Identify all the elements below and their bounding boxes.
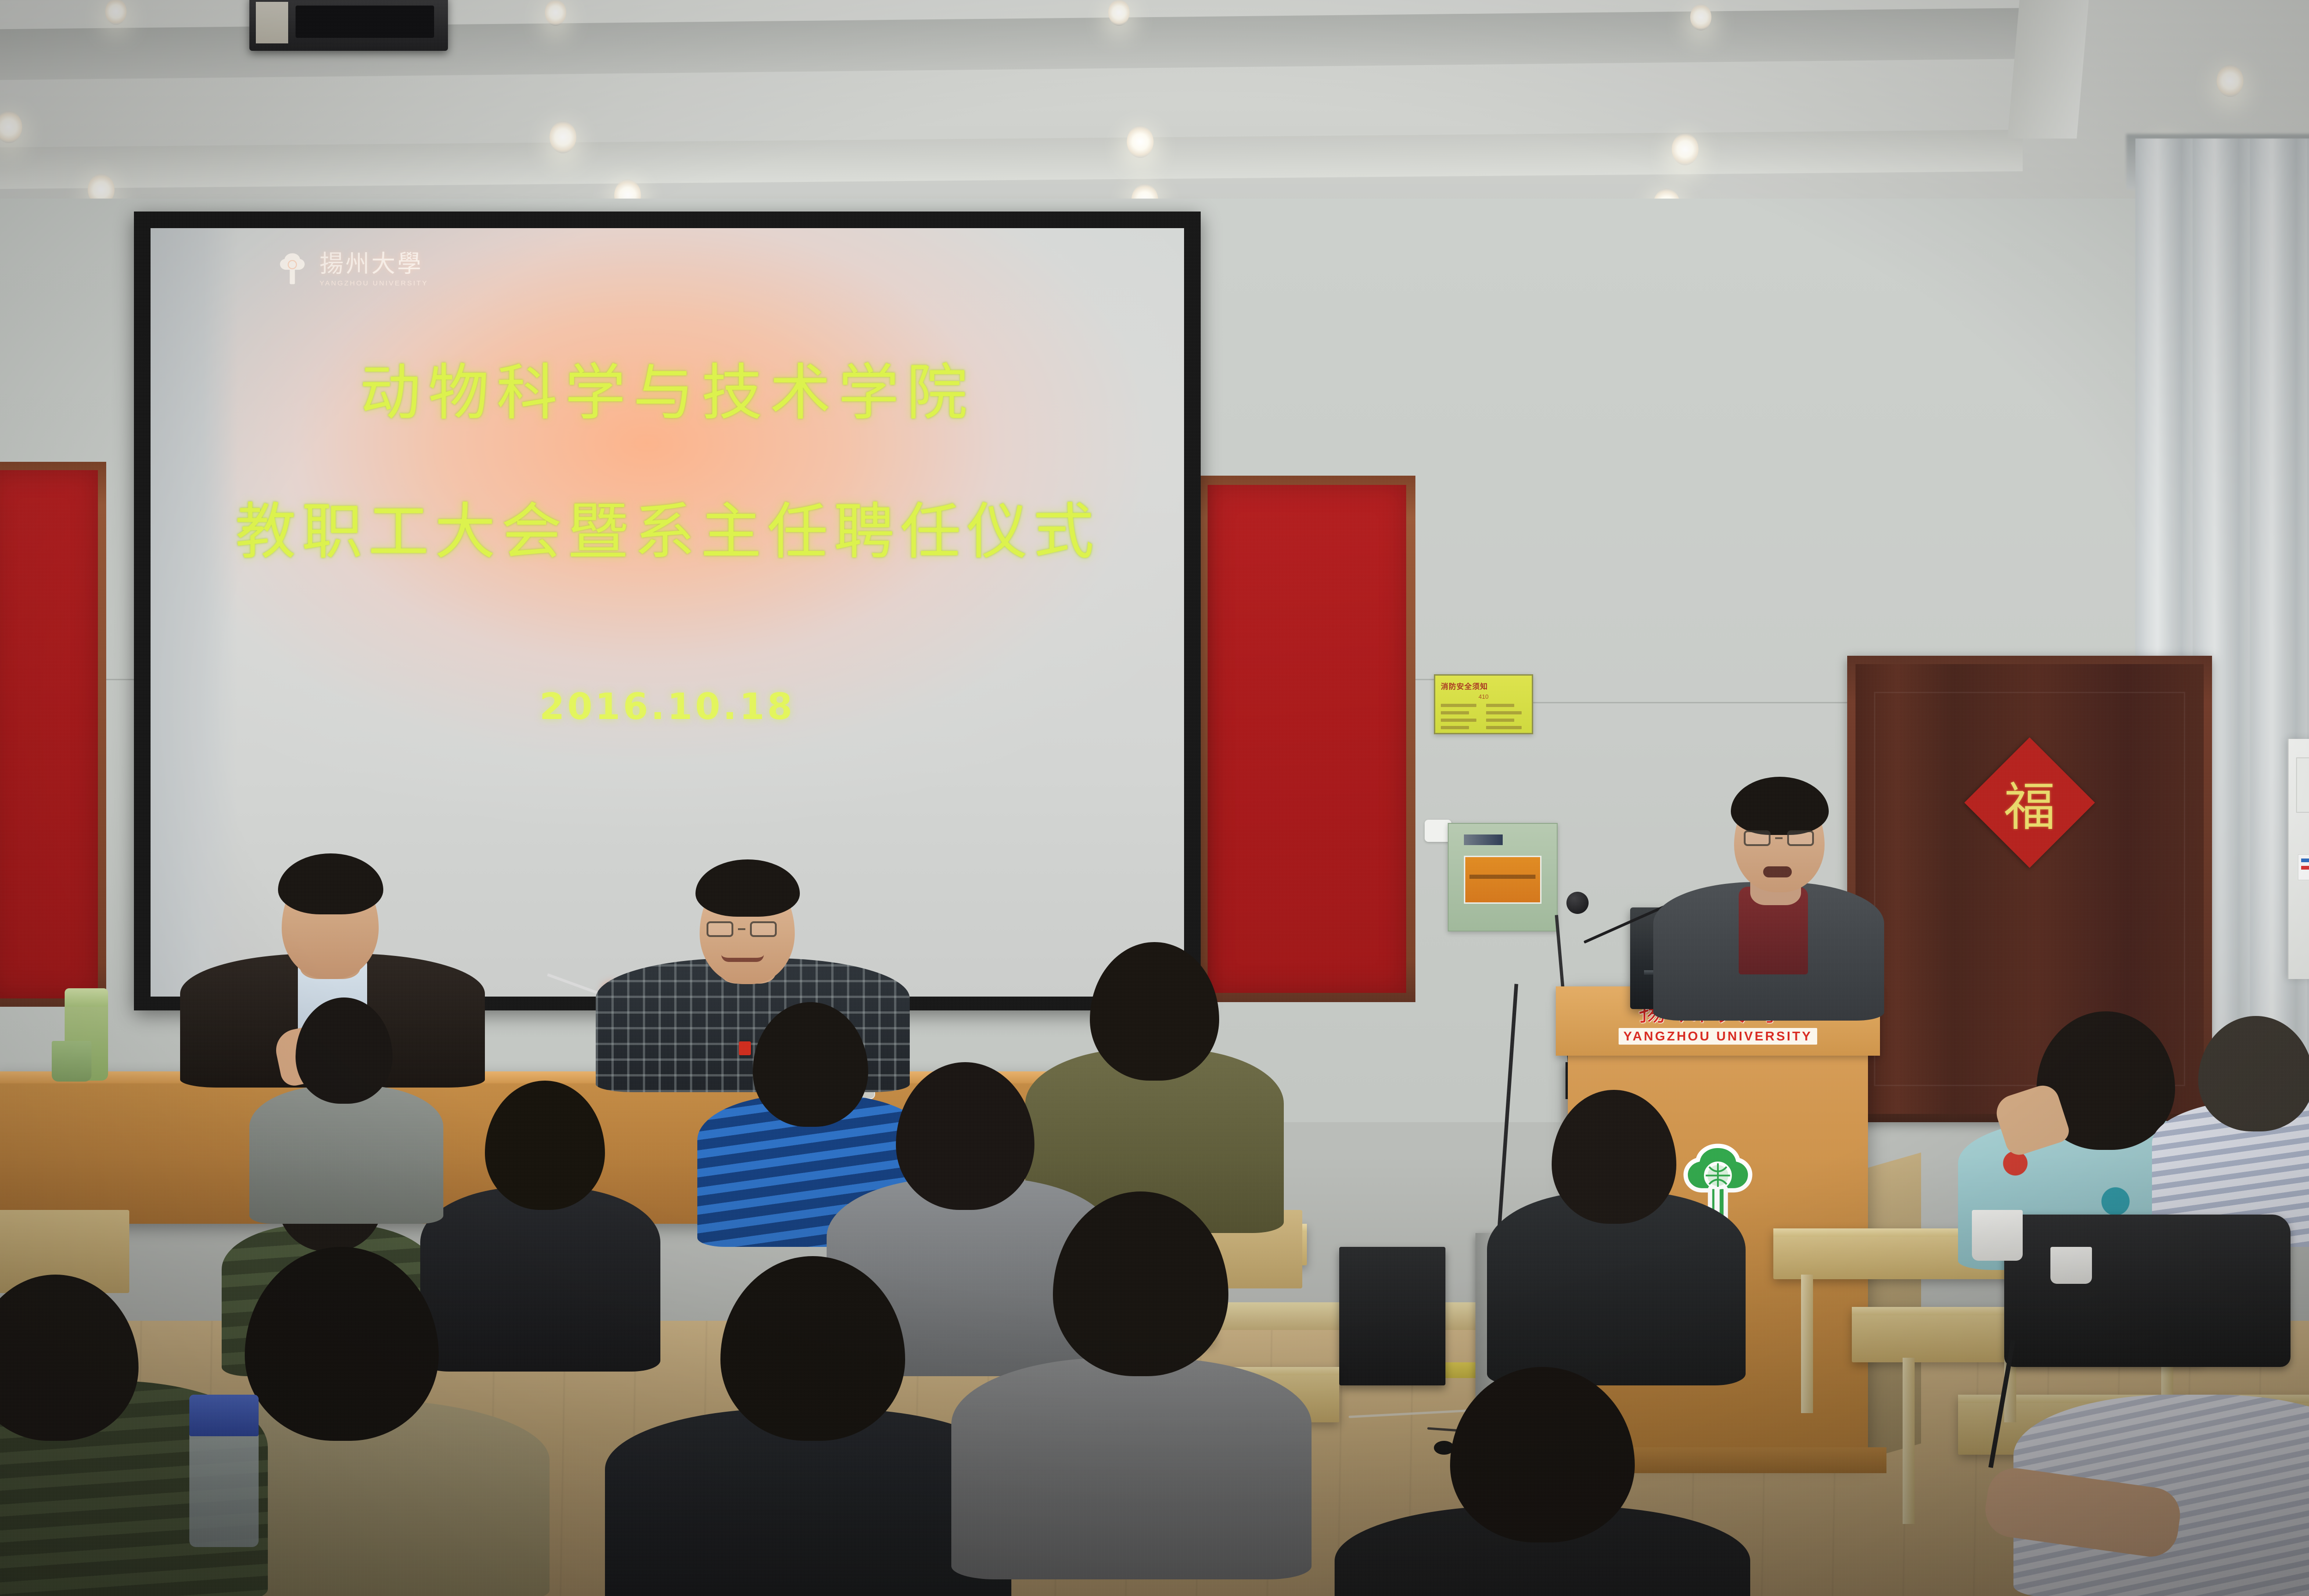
speaker-mouth (1763, 866, 1792, 877)
desk-leg (1903, 1358, 1915, 1524)
fu-glyph: 福 (2004, 765, 2055, 840)
paper-cup (1972, 1210, 2023, 1261)
panel-indicator-window (1464, 856, 1541, 904)
panel-label (1464, 834, 1503, 845)
notice-subtitle: 410 (1441, 693, 1526, 700)
slide-body: 动物科学与技术学院 教职工大会暨系主任聘任仪式 2016.10.18 (151, 344, 1184, 728)
official-right-hair (695, 859, 800, 917)
slide-title-line2: 教职工大会暨系主任聘任仪式 (151, 483, 1184, 571)
notice-column (1486, 704, 1527, 733)
ceiling-spotlight (550, 121, 576, 153)
microphone-head (1566, 892, 1589, 914)
water-bottle (189, 1395, 259, 1547)
official-left-hair (278, 853, 383, 914)
lectern-name-en: YANGZHOU UNIVERSITY (1619, 1028, 1817, 1045)
slide-title-line1: 动物科学与技术学院 (151, 344, 1184, 432)
ceiling-spotlight (2217, 65, 2243, 97)
green-cup (52, 1041, 91, 1082)
ceiling-bulkhead (2007, 0, 2089, 139)
ceiling-spotlight (1672, 133, 1699, 165)
safety-notice-sign: 消防安全须知 410 (1434, 674, 1533, 734)
podium-speaker (1658, 748, 1898, 1007)
speaker-hair (1731, 777, 1829, 835)
electrical-panel-box[interactable] (1448, 823, 1558, 931)
bulletin-board-right (1198, 476, 1415, 1002)
notice-column (1441, 704, 1481, 733)
audience-light-shirt (951, 1358, 1312, 1579)
audience-dark-jacket (420, 1187, 660, 1372)
speaker-glasses (1744, 830, 1814, 846)
official-right-smile (721, 955, 764, 962)
audience-grey-top (249, 1085, 443, 1224)
bulletin-board-felt (0, 470, 98, 998)
bulletin-board-felt (1208, 485, 1406, 993)
ceiling-spotlight (1108, 0, 1130, 26)
cabinet-label (2298, 854, 2309, 880)
ceiling-spotlight (1690, 4, 1711, 30)
slide-university-logo: 揚州大學 YANGZHOU UNIVERSITY (275, 251, 428, 287)
ceiling-spotlight (1127, 126, 1154, 158)
slide-logo-cn: 揚州大學 (320, 252, 428, 276)
floor-speaker (1339, 1247, 1445, 1385)
conference-room-photo: 揚州大學 YANGZHOU UNIVERSITY 动物科学与技术学院 教职工大会… (0, 0, 2309, 1596)
bulletin-board-left (0, 462, 106, 1007)
party-emblem-pin (739, 1041, 751, 1055)
ceiling-projector (249, 0, 448, 51)
tree-emblem-icon (275, 251, 309, 287)
notice-columns (1441, 704, 1526, 733)
ceiling-spotlight (545, 0, 566, 26)
official-right-glasses (707, 921, 777, 937)
slide-date: 2016.10.18 (151, 686, 1184, 728)
thermos-cap (65, 988, 108, 1007)
cabinet-vent (2296, 757, 2309, 813)
notice-title: 消防安全须知 (1441, 680, 1526, 691)
shoulder-bag (2004, 1215, 2291, 1367)
bottle-cap (189, 1395, 259, 1436)
audience-head (0, 1275, 139, 1441)
slide-logo-en: YANGZHOU UNIVERSITY (320, 280, 428, 287)
desk-leg (1801, 1275, 1813, 1413)
paper-cup (2050, 1247, 2092, 1284)
wall-cabinet (2288, 739, 2309, 979)
